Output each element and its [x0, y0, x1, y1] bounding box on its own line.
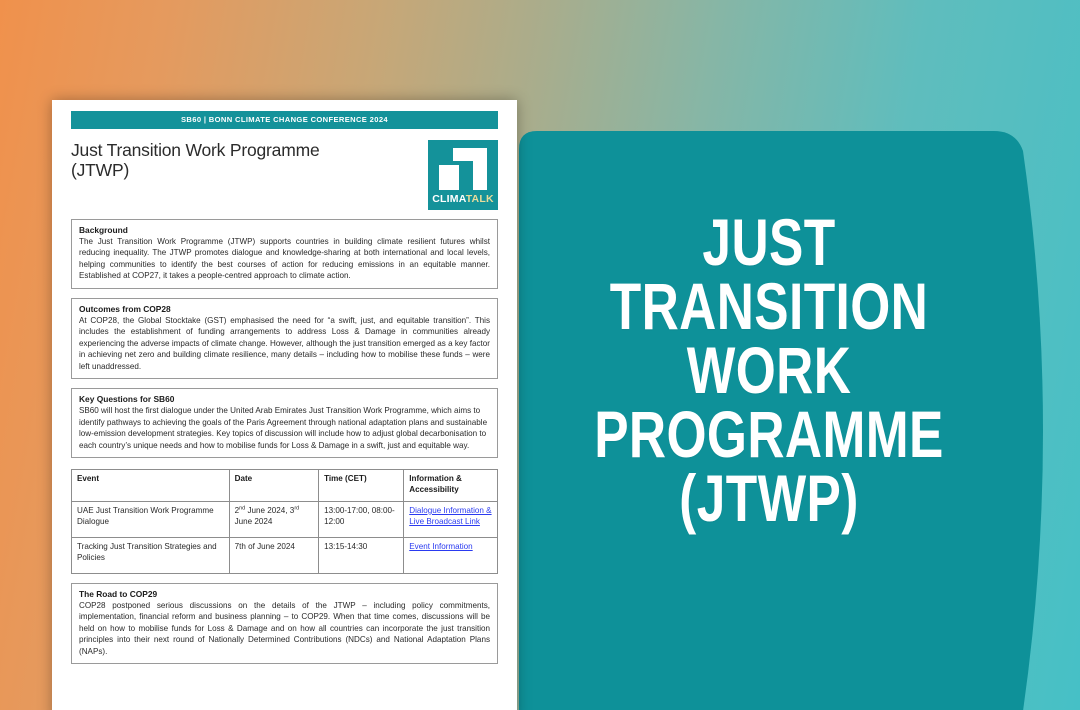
cell-date: 7th of June 2024: [229, 537, 318, 573]
section-outcomes-heading: Outcomes from COP28: [79, 304, 490, 314]
cell-information: Dialogue Information & Live Broadcast Li…: [404, 501, 498, 537]
conference-bar: SB60 | BONN CLIMATE CHANGE CONFERENCE 20…: [71, 111, 498, 129]
document-title: Just Transition Work Programme (JTWP): [71, 140, 319, 181]
screenshot-root: JUST TRANSITION WORK PROGRAMME (JTWP) SB…: [0, 0, 1080, 710]
document-title-line-2: (JTWP): [71, 160, 129, 180]
section-road-to-cop29: The Road to COP29 COP28 postponed seriou…: [71, 583, 498, 664]
logo-word-a: CLIMA: [432, 193, 465, 205]
document-header-row: Just Transition Work Programme (JTWP) CL…: [71, 139, 498, 210]
cell-time: 13:00-17:00, 08:00-12:00: [319, 501, 404, 537]
table-row: Tracking Just Transition Strategies and …: [72, 537, 498, 573]
event-info-link[interactable]: Event Information: [409, 542, 472, 551]
col-header-event: Event: [72, 470, 230, 502]
section-road-body: COP28 postponed serious discussions on t…: [79, 600, 490, 657]
cell-information: Event Information: [404, 537, 498, 573]
table-row: UAE Just Transition Work Programme Dialo…: [72, 501, 498, 537]
feature-title-line-2: TRANSITION: [574, 274, 964, 338]
section-outcomes-body: At COP28, the Global Stocktake (GST) emp…: [79, 315, 490, 372]
dialogue-info-link[interactable]: Dialogue Information & Live Broadcast Li…: [409, 506, 491, 526]
events-table: Event Date Time (CET) Information & Acce…: [71, 469, 498, 574]
cell-date: 2nd June 2024, 3rd June 2024: [229, 501, 318, 537]
date-suffix: June 2024: [235, 517, 273, 526]
section-key-questions-body: SB60 will host the first dialogue under …: [79, 405, 490, 451]
logo-word-b: TALK: [466, 193, 494, 205]
feature-title-line-5: (JTWP): [574, 466, 964, 530]
col-header-information: Information & Accessibility: [404, 470, 498, 502]
cell-event: Tracking Just Transition Strategies and …: [72, 537, 230, 573]
section-key-questions: Key Questions for SB60 SB60 will host th…: [71, 388, 498, 458]
date-mid: June 2024, 3: [245, 506, 294, 515]
section-key-questions-heading: Key Questions for SB60: [79, 394, 490, 404]
table-header-row: Event Date Time (CET) Information & Acce…: [72, 470, 498, 502]
col-header-time: Time (CET): [319, 470, 404, 502]
feature-title-line-1: JUST: [574, 210, 964, 274]
cell-time: 13:15-14:30: [319, 537, 404, 573]
col-header-date: Date: [229, 470, 318, 502]
section-outcomes: Outcomes from COP28 At COP28, the Global…: [71, 298, 498, 379]
section-background-heading: Background: [79, 225, 490, 235]
document-title-line-1: Just Transition Work Programme: [71, 140, 319, 160]
document-card: SB60 | BONN CLIMATE CHANGE CONFERENCE 20…: [52, 100, 517, 710]
climatalk-mark-icon: [439, 148, 487, 190]
date-ordinal-2: rd: [294, 505, 299, 511]
feature-title-line-3: WORK: [574, 338, 964, 402]
climatalk-logo: CLIMATALK: [428, 140, 498, 210]
section-background: Background The Just Transition Work Prog…: [71, 219, 498, 289]
feature-title-line-4: PROGRAMME: [574, 402, 964, 466]
cell-event: UAE Just Transition Work Programme Dialo…: [72, 501, 230, 537]
climatalk-wordmark: CLIMATALK: [428, 193, 498, 205]
section-road-heading: The Road to COP29: [79, 589, 490, 599]
section-background-body: The Just Transition Work Programme (JTWP…: [79, 236, 490, 282]
feature-title: JUST TRANSITION WORK PROGRAMME (JTWP): [574, 210, 964, 530]
